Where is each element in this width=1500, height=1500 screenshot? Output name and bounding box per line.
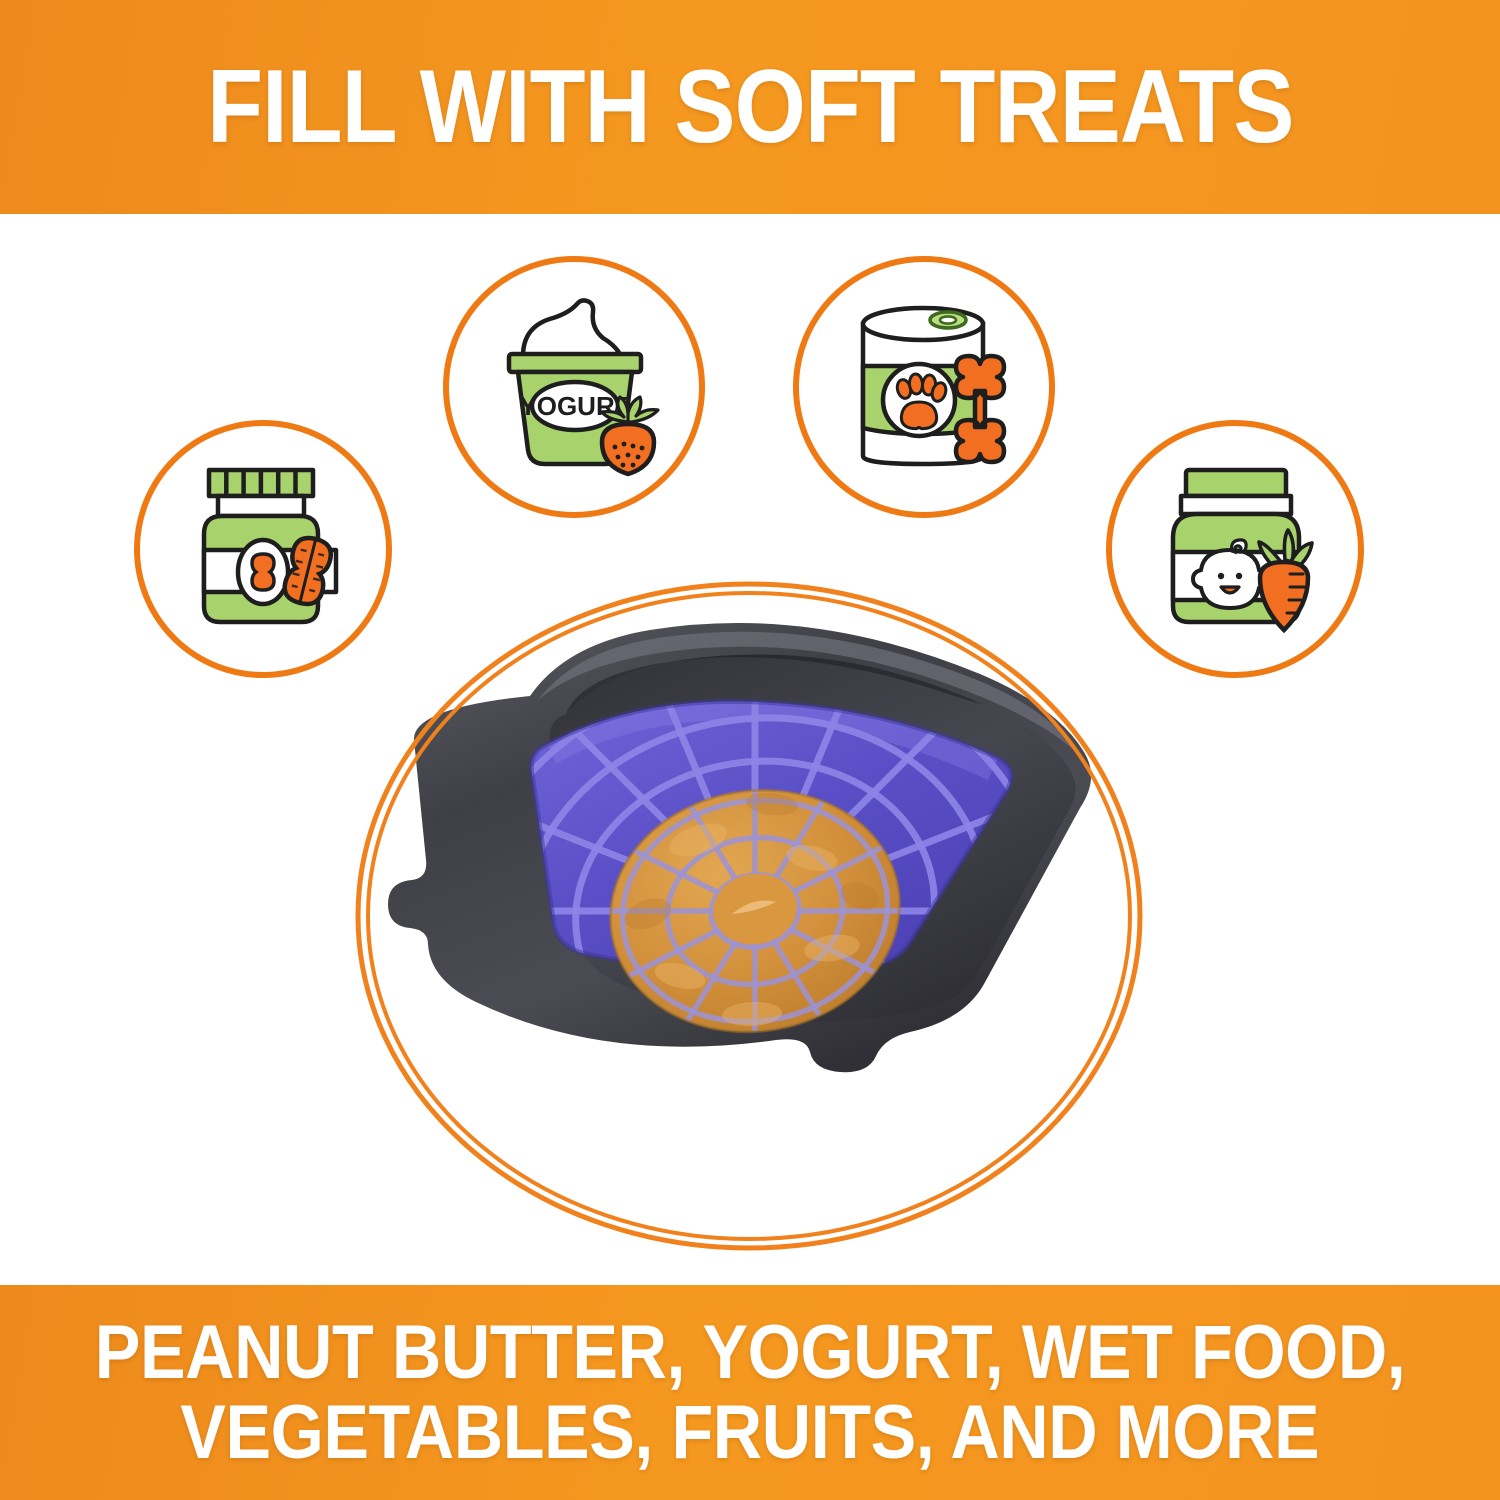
wet-food-can-glyph [815,278,1033,496]
product-photo [380,596,1120,1236]
footer-line-2: VEGETABLES, FRUITS, AND MORE [181,1393,1320,1472]
lick-mat-in-slow-feeder-bowl [380,596,1120,1236]
peanut-butter-jar-icon [134,420,392,678]
infographic-page: FILL WITH SOFT TREATS [0,0,1500,1500]
baby-food-jar-icon [1106,420,1364,678]
footer-line-1: PEANUT BUTTER, YOGURT, WET FOOD, [95,1313,1406,1392]
header-banner: FILL WITH SOFT TREATS [0,0,1500,214]
footer-banner: PEANUT BUTTER, YOGURT, WET FOOD, VEGETAB… [0,1285,1500,1500]
page-title: FILL WITH SOFT TREATS [207,55,1293,159]
peanut-butter-jar-glyph [156,442,371,657]
yogurt-tub-icon: YOGURT [443,256,705,518]
baby-food-jar-glyph [1128,442,1343,657]
yogurt-tub-glyph: YOGURT [465,278,683,496]
wet-food-can-icon [793,256,1055,518]
